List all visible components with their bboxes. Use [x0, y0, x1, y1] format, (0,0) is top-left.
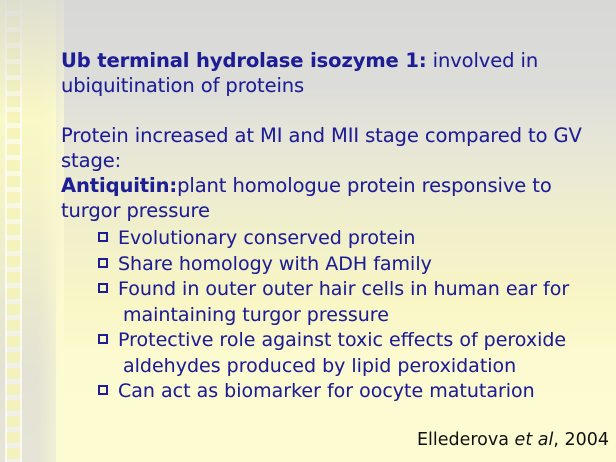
- list-item-text: Found in outer outer hair cells in human…: [118, 278, 569, 300]
- list-item-text: Share homology with ADH family: [118, 253, 432, 275]
- antiquitin-label: Antiquitin:: [61, 174, 177, 197]
- square-bullet-icon: [98, 258, 108, 268]
- list-item-text: Evolutionary conserved protein: [118, 227, 415, 249]
- slide-title-line: Ub terminal hydrolase isozyme 1: involve…: [61, 48, 609, 98]
- list-item: Can act as biomarker for oocyte matutari…: [61, 379, 609, 405]
- paragraph-spacer: [61, 98, 609, 123]
- citation-author: Ellederova: [417, 430, 515, 450]
- paragraph-protein-increase: Protein increased at MI and MII stage co…: [61, 123, 609, 173]
- film-strip-left-rail: [5, 0, 7, 462]
- film-strip-right-rail: [20, 0, 22, 462]
- list-item-continuation: aldehydes produced by lipid peroxidation: [118, 354, 609, 380]
- slide-title-bold: Ub terminal hydrolase isozyme 1:: [61, 49, 427, 72]
- paragraph-antiquitin: Antiquitin:plant homologue protein respo…: [61, 173, 609, 223]
- list-item: Protective role against toxic effects of…: [61, 328, 609, 379]
- film-strip-pattern-icon: [6, 0, 21, 462]
- list-item-continuation: maintaining turgor pressure: [118, 303, 609, 329]
- list-item: Evolutionary conserved protein: [61, 226, 609, 252]
- list-item-text: Can act as biomarker for oocyte matutari…: [118, 380, 535, 402]
- square-bullet-icon: [98, 232, 108, 242]
- list-item: Found in outer outer hair cells in human…: [61, 277, 609, 328]
- square-bullet-icon: [98, 283, 108, 293]
- slide-canvas: Ub terminal hydrolase isozyme 1: involve…: [0, 0, 616, 462]
- citation: Ellederova et al, 2004: [61, 430, 615, 450]
- citation-year: , 2004: [553, 430, 609, 450]
- square-bullet-icon: [98, 385, 108, 395]
- list-item: Share homology with ADH family: [61, 252, 609, 278]
- bullet-list: Evolutionary conserved protein Share hom…: [61, 226, 609, 405]
- list-item-text: Protective role against toxic effects of…: [118, 329, 566, 351]
- square-bullet-icon: [98, 334, 108, 344]
- slide-content: Ub terminal hydrolase isozyme 1: involve…: [61, 48, 609, 405]
- citation-etal: et al: [515, 430, 554, 450]
